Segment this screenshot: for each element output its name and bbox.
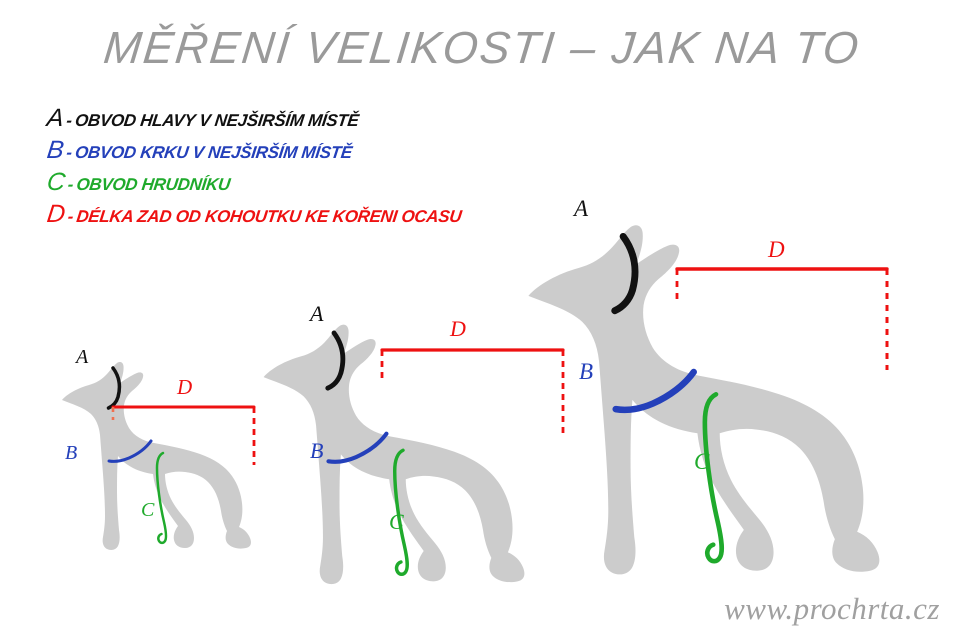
- large-dog-label-a: A: [574, 197, 588, 220]
- legend-text-d: DÉLKA ZAD OD KOHOUTKU KE KOŘENI OCASU: [75, 207, 462, 226]
- small-dog-d-measure: [110, 398, 265, 473]
- large-dog-label-b: B: [579, 360, 593, 383]
- medium-dog-label-c: C: [389, 511, 404, 533]
- legend: A-OBVOD HLAVY V NEJŠIRŠÍM MÍSTĚ B-OBVOD …: [47, 106, 567, 234]
- medium-dog-label-b: B: [310, 440, 323, 462]
- medium-dog-label-d: D: [450, 318, 466, 340]
- legend-item-b: B-OBVOD KRKU V NEJŠIRŠÍM MÍSTĚ: [45, 138, 568, 163]
- page-title: MĚŘENÍ VELIKOSTI – JAK NA TO: [0, 22, 964, 74]
- large-dog-label-c: C: [694, 450, 709, 473]
- legend-text-b: OBVOD KRKU V NEJŠIRŠÍM MÍSTĚ: [74, 143, 353, 162]
- legend-text-c: OBVOD HRUDNÍKU: [75, 175, 231, 194]
- small-dog-label-c: C: [141, 500, 154, 520]
- infographic-canvas: MĚŘENÍ VELIKOSTI – JAK NA TO A-OBVOD HLA…: [0, 0, 964, 643]
- small-dog-label-d: D: [177, 377, 192, 398]
- watermark: www.prochrta.cz: [724, 591, 940, 627]
- legend-item-a: A-OBVOD HLAVY V NEJŠIRŠÍM MÍSTĚ: [45, 106, 568, 131]
- large-dog-d-measure: [673, 258, 898, 383]
- legend-text-a: OBVOD HLAVY V NEJŠIRŠÍM MÍSTĚ: [74, 111, 360, 130]
- legend-item-d: D-DÉLKA ZAD OD KOHOUTKU KE KOŘENI OCASU: [45, 202, 568, 227]
- legend-item-c: C-OBVOD HRUDNÍKU: [45, 170, 568, 195]
- medium-dog-label-a: A: [310, 303, 323, 325]
- large-dog-label-d: D: [768, 238, 785, 261]
- small-dog-label-a: A: [76, 347, 88, 367]
- small-dog-label-b: B: [65, 443, 77, 463]
